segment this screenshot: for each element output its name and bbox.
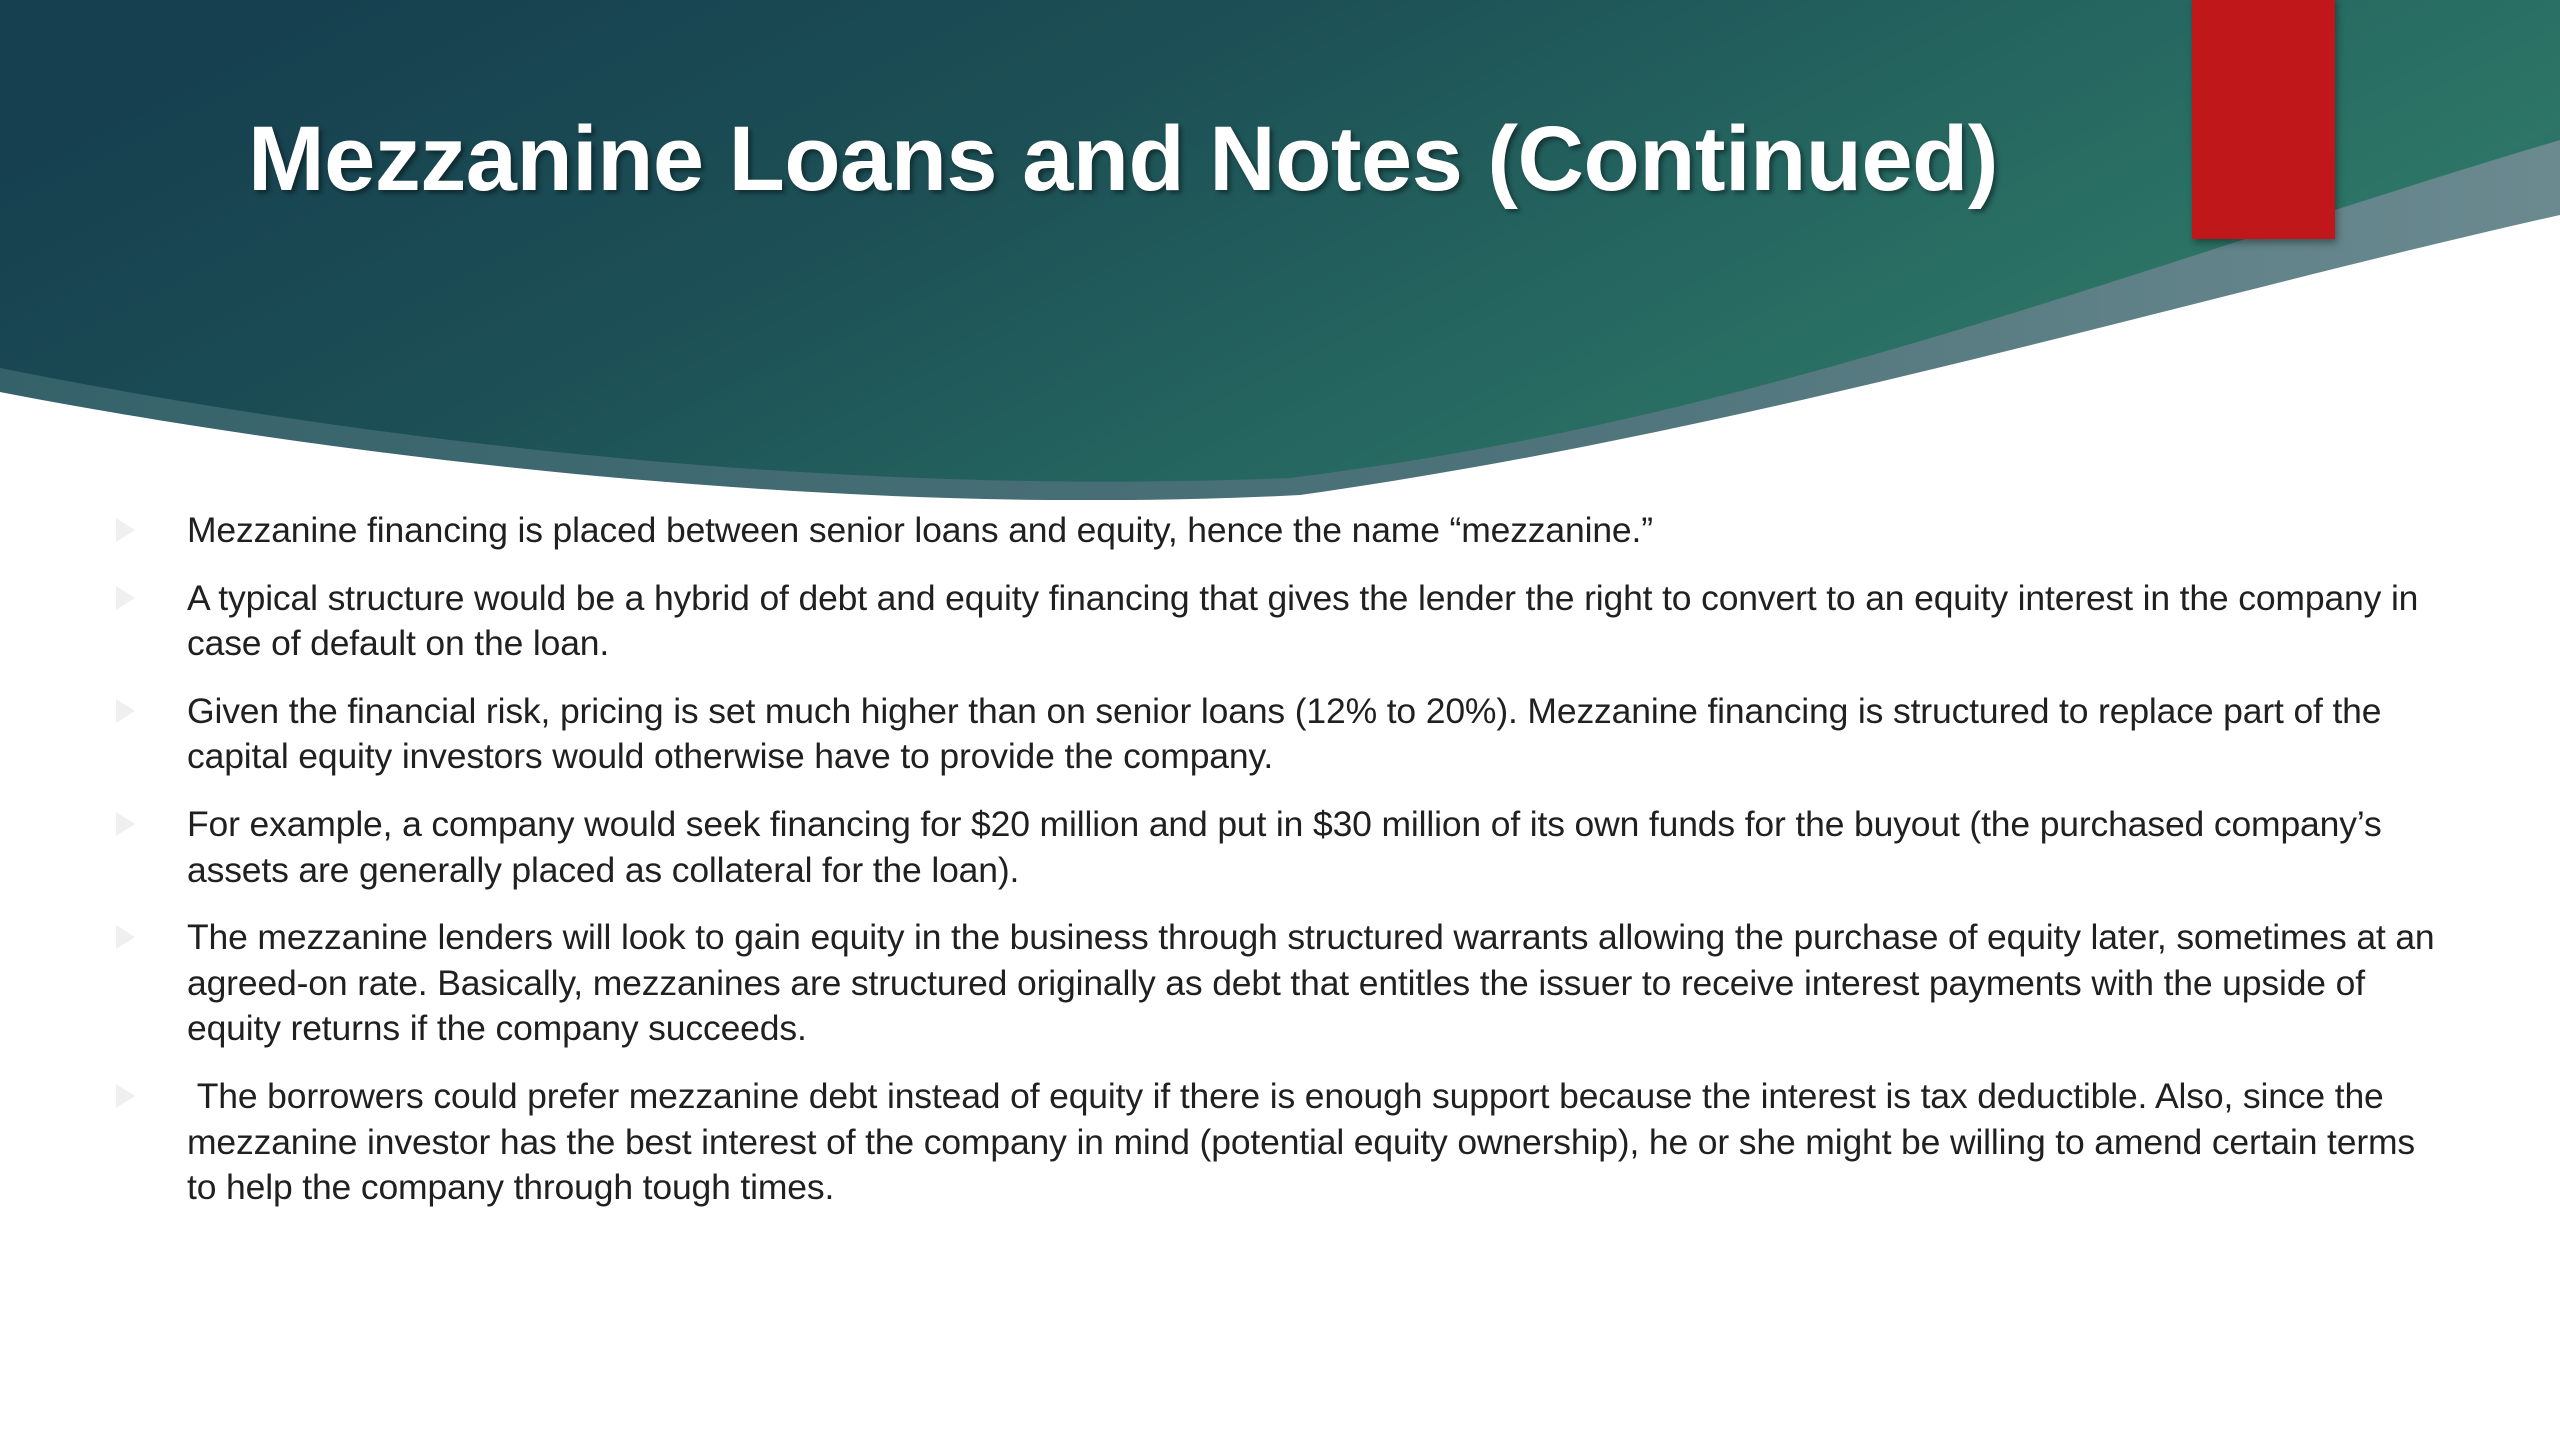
- bullet-item: A typical structure would be a hybrid of…: [110, 576, 2450, 667]
- red-accent-rectangle: [2192, 0, 2335, 239]
- triangle-right-icon: [116, 586, 135, 610]
- triangle-right-icon: [116, 925, 135, 949]
- bullet-text: A typical structure would be a hybrid of…: [187, 576, 2450, 667]
- bullet-text: Given the financial risk, pricing is set…: [187, 689, 2450, 780]
- bullet-item: The borrowers could prefer mezzanine deb…: [110, 1074, 2450, 1211]
- bullet-item: The mezzanine lenders will look to gain …: [110, 915, 2450, 1052]
- bullet-text: For example, a company would seek financ…: [187, 802, 2450, 893]
- triangle-right-icon: [116, 699, 135, 723]
- bullet-text: The borrowers could prefer mezzanine deb…: [187, 1074, 2450, 1211]
- slide-body: Mezzanine financing is placed between se…: [0, 508, 2560, 1388]
- triangle-right-icon: [116, 812, 135, 836]
- bullet-item: Given the financial risk, pricing is set…: [110, 689, 2450, 780]
- slide-title: Mezzanine Loans and Notes (Continued): [248, 96, 2148, 223]
- bullet-list: Mezzanine financing is placed between se…: [110, 508, 2450, 1211]
- header-curve-divider: [0, 0, 2560, 482]
- bullet-text: The mezzanine lenders will look to gain …: [187, 915, 2450, 1052]
- header-banner: [0, 0, 2560, 500]
- slide-canvas: Mezzanine Loans and Notes (Continued) Me…: [0, 0, 2560, 1440]
- triangle-right-icon: [116, 1084, 135, 1108]
- triangle-right-icon: [116, 518, 135, 542]
- bullet-text: Mezzanine financing is placed between se…: [187, 508, 2450, 554]
- bullet-item: Mezzanine financing is placed between se…: [110, 508, 2450, 554]
- bullet-item: For example, a company would seek financ…: [110, 802, 2450, 893]
